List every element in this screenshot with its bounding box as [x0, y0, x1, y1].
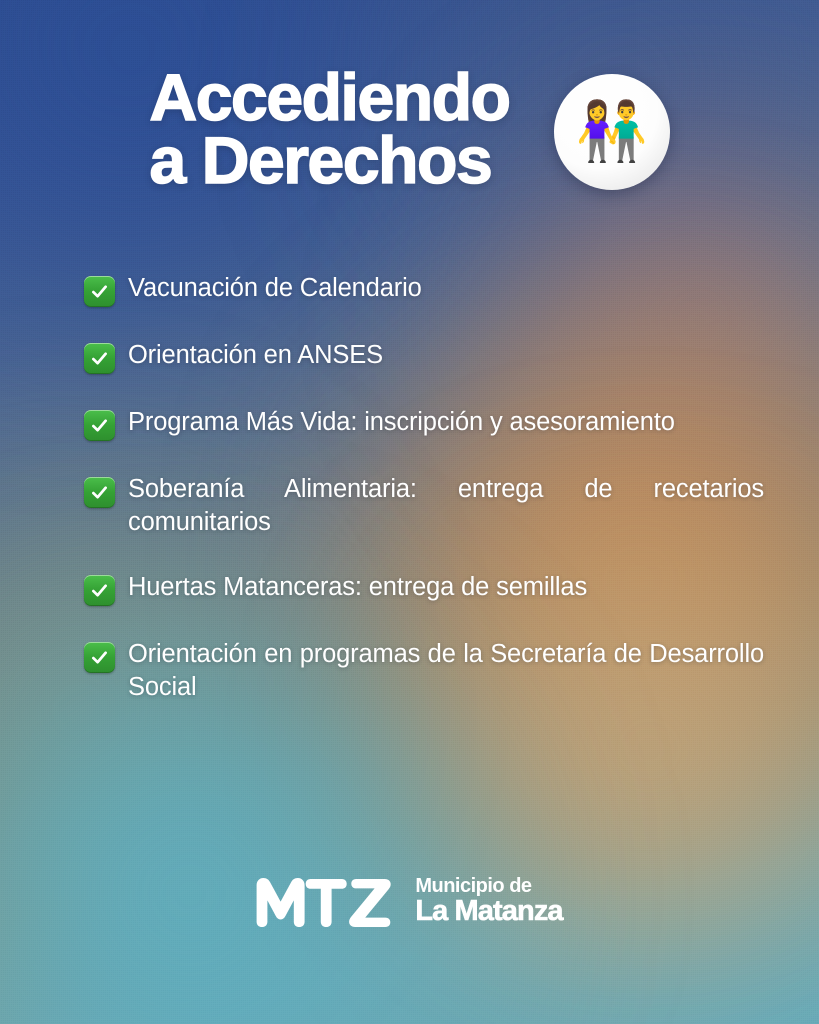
municipality-logo: Municipio de La Matanza — [0, 876, 819, 928]
logo-line-1: Municipio de — [415, 876, 562, 896]
check-mark-button-icon — [84, 276, 115, 307]
list-item: Programa Más Vida: inscripción y asesora… — [84, 406, 764, 441]
poster-content: Accediendo a Derechos 👫 Vacunación de Ca… — [0, 0, 819, 1024]
check-mark-button-icon — [84, 642, 115, 673]
mtz-logomark — [256, 876, 406, 928]
boy-and-girl-emoji: 👫 — [575, 103, 647, 161]
list-item: Huertas Matanceras: entrega de semillas — [84, 571, 764, 606]
list-item-label: Huertas Matanceras: entrega de semillas — [128, 571, 764, 604]
header-badge: 👫 — [554, 74, 670, 190]
list-item: Orientación en ANSES — [84, 339, 764, 374]
list-item: Orientación en programas de la Secretarí… — [84, 638, 764, 704]
check-mark-button-icon — [84, 343, 115, 374]
page-title: Accediendo a Derechos — [149, 62, 509, 191]
list-item-label: Programa Más Vida: inscripción y asesora… — [128, 406, 764, 439]
list-item-label: Orientación en programas de la Secretarí… — [128, 638, 764, 704]
list-item-label: Soberanía Alimentaria: entrega de receta… — [128, 473, 764, 539]
poster-canvas: Accediendo a Derechos 👫 Vacunación de Ca… — [0, 0, 819, 1024]
services-list: Vacunación de Calendario Orientación en … — [84, 272, 764, 705]
check-mark-button-icon — [84, 575, 115, 606]
list-item: Vacunación de Calendario — [84, 272, 764, 307]
list-item-label: Vacunación de Calendario — [128, 272, 764, 305]
list-item: Soberanía Alimentaria: entrega de receta… — [84, 473, 764, 539]
check-mark-button-icon — [84, 477, 115, 508]
logo-wordmark: Municipio de La Matanza — [415, 876, 562, 928]
logo-line-2: La Matanza — [415, 897, 562, 926]
list-item-label: Orientación en ANSES — [128, 339, 764, 372]
poster-header: Accediendo a Derechos 👫 — [0, 62, 819, 191]
check-mark-button-icon — [84, 410, 115, 441]
